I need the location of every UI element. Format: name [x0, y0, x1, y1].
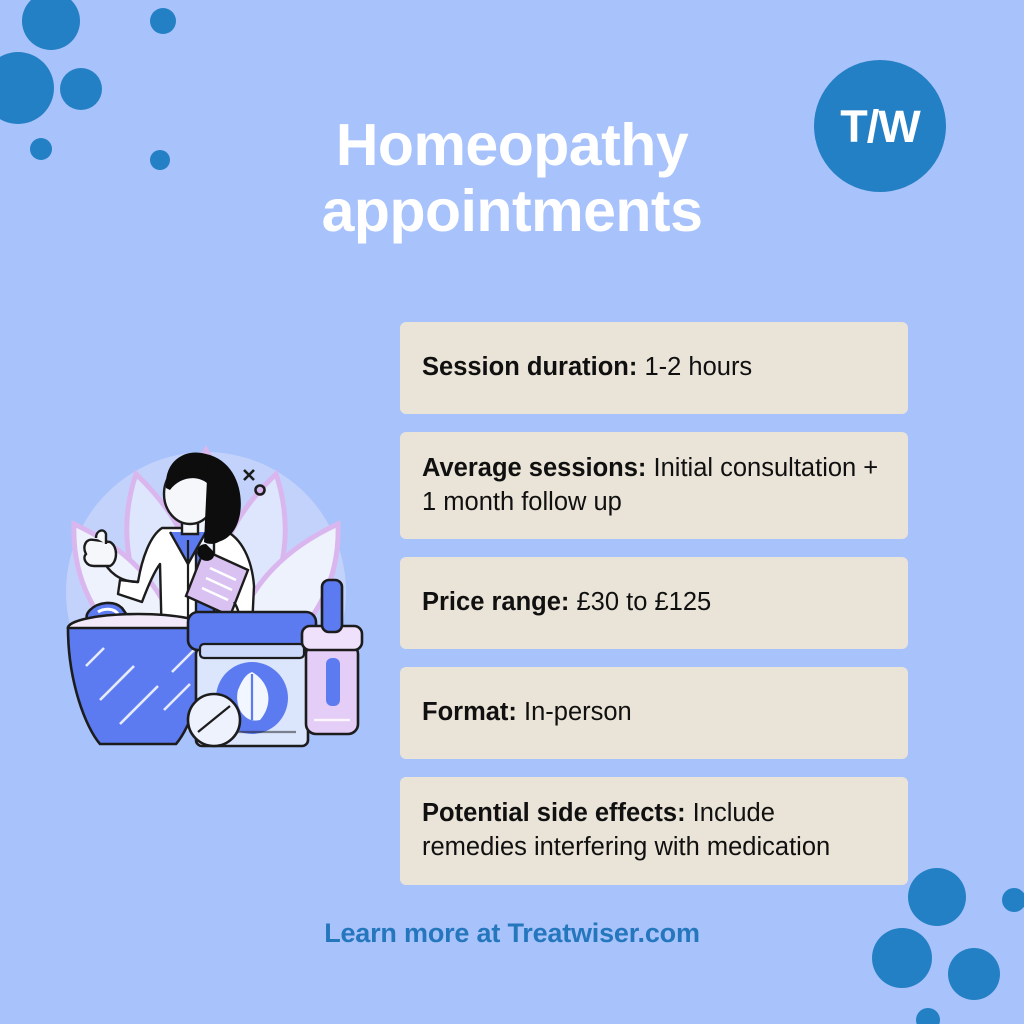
info-card-text: Average sessions: Initial consultation +…: [422, 452, 886, 519]
decor-dot: [916, 1008, 940, 1024]
info-card-list: Session duration: 1-2 hours Average sess…: [400, 322, 908, 903]
info-card-label: Potential side effects:: [422, 799, 686, 827]
decor-dot: [60, 68, 102, 110]
homeopathy-illustration: [38, 432, 374, 764]
info-card-price-range: Price range: £30 to £125: [400, 557, 908, 649]
info-card-potential-side-effects: Potential side effects: Include remedies…: [400, 777, 908, 884]
decor-dot: [948, 948, 1000, 1000]
page-title-line-1: Homeopathy: [252, 112, 772, 178]
info-card-text: Format: In-person: [422, 696, 632, 730]
decor-dot: [30, 138, 52, 160]
info-card-text: Potential side effects: Include remedies…: [422, 797, 886, 864]
info-card-label: Price range:: [422, 588, 569, 616]
decor-dot: [0, 52, 54, 124]
decor-dot: [150, 150, 170, 170]
page-title-line-2: appointments: [252, 178, 772, 244]
info-card-session-duration: Session duration: 1-2 hours: [400, 322, 908, 414]
info-card-label: Format:: [422, 698, 517, 726]
info-card-average-sessions: Average sessions: Initial consultation +…: [400, 432, 908, 539]
info-card-label: Session duration:: [422, 353, 637, 381]
decor-dot: [1002, 888, 1024, 912]
info-card-label: Average sessions:: [422, 454, 646, 482]
info-card-value: £30 to £125: [577, 588, 712, 616]
footer-link[interactable]: Learn more at Treatwiser.com: [0, 918, 1024, 949]
info-card-text: Price range: £30 to £125: [422, 586, 711, 620]
pill-tablet: [188, 694, 240, 746]
info-card-text: Session duration: 1-2 hours: [422, 351, 752, 385]
decor-dot: [150, 8, 176, 34]
page-title: Homeopathy appointments: [252, 112, 772, 244]
info-card-value: 1-2 hours: [644, 353, 752, 381]
info-card-value: In-person: [524, 698, 632, 726]
brand-logo-badge[interactable]: T/W: [814, 60, 946, 192]
infographic-poster: T/W Homeopathy appointments: [0, 0, 1024, 1024]
decor-dot: [22, 0, 80, 50]
brand-logo-text: T/W: [840, 104, 919, 149]
info-card-format: Format: In-person: [400, 667, 908, 759]
